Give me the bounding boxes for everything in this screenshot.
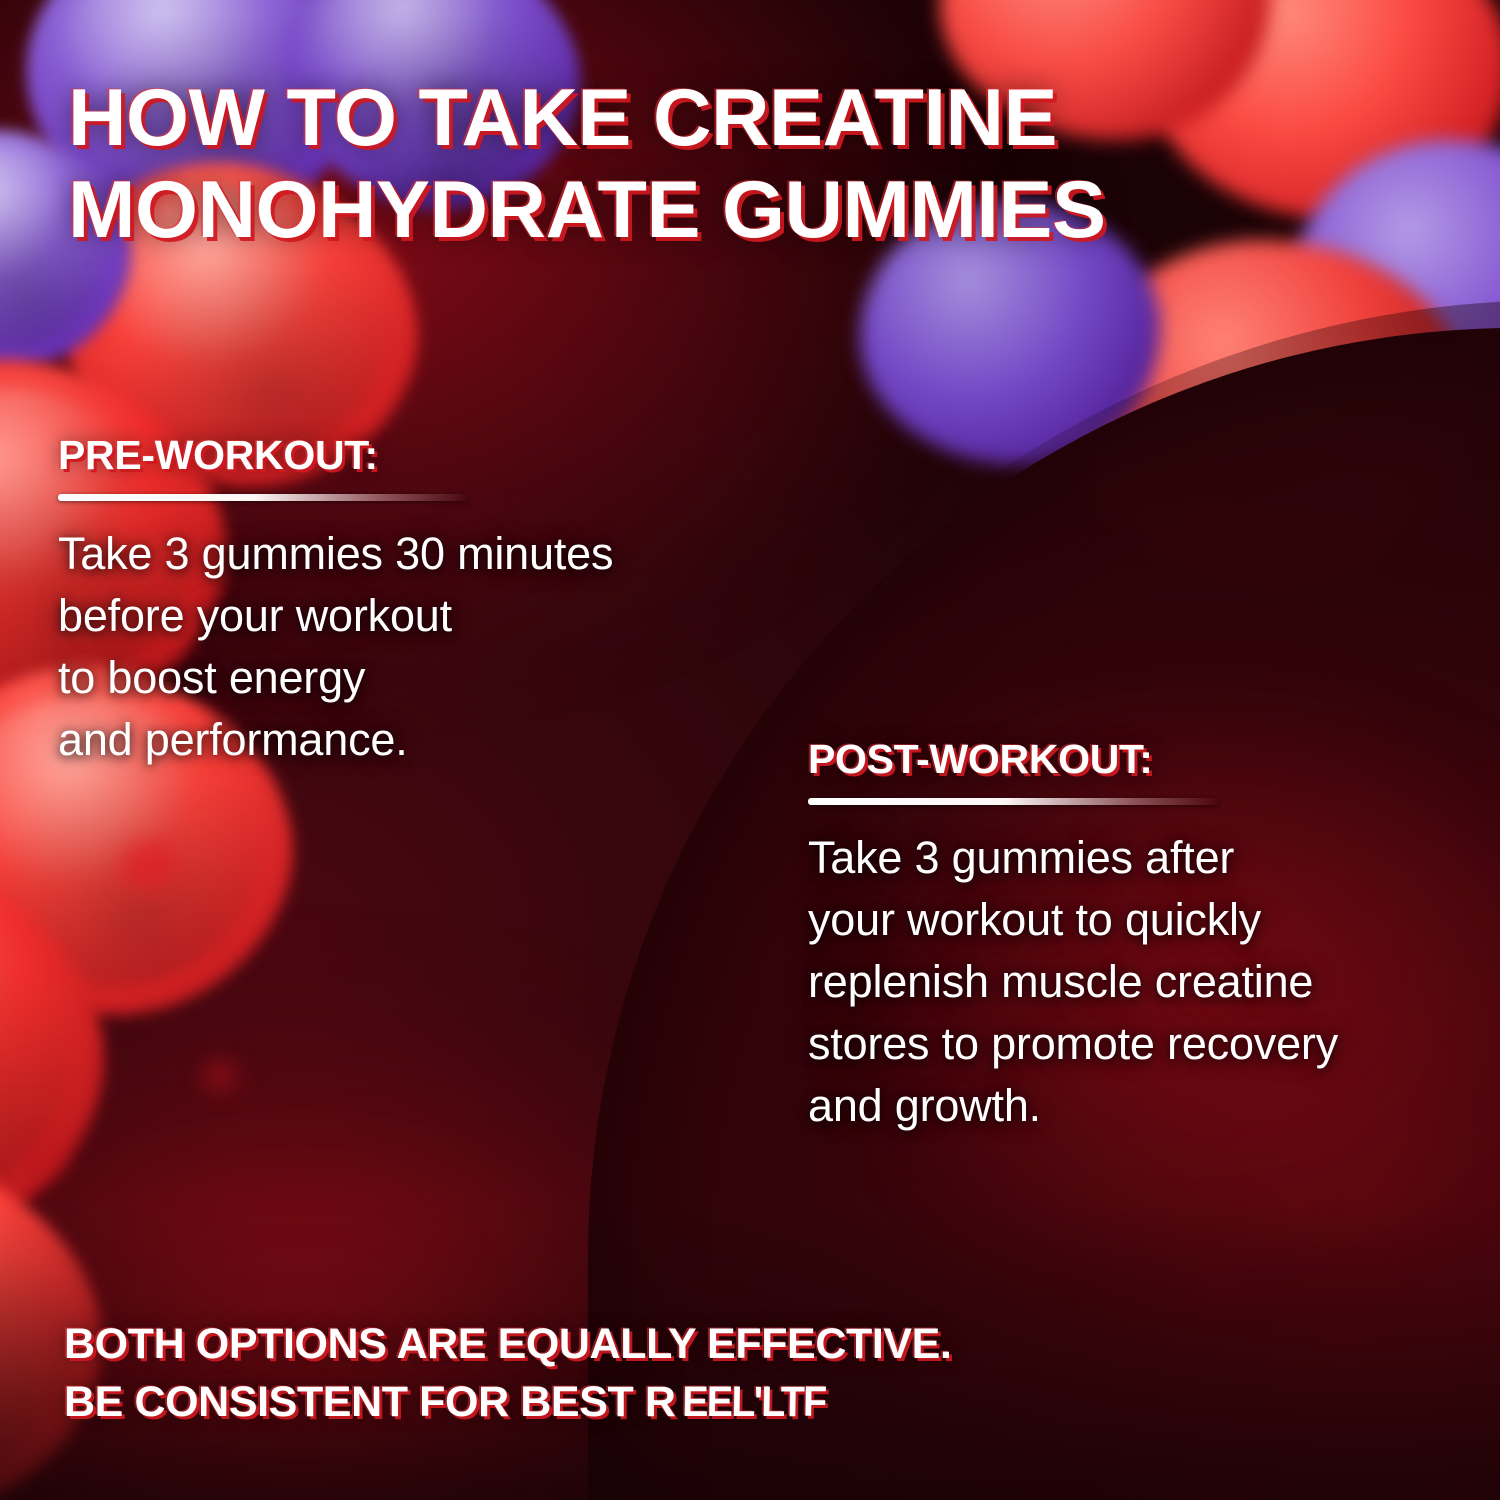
page-title: HOW TO TAKE CREATINE MONOHYDRATE GUMMIES bbox=[68, 72, 1338, 257]
pre-workout-body: Take 3 gummies 30 minutes before your wo… bbox=[58, 523, 758, 771]
pre-workout-line-3: to boost energy bbox=[58, 647, 758, 709]
post-workout-line-5: and growth. bbox=[808, 1075, 1468, 1137]
section-post-workout: POST-WORKOUT: Take 3 gummies after your … bbox=[808, 736, 1468, 1137]
footer-line-2: BE CONSISTENT FOR BEST REEl'LTF bbox=[64, 1374, 1364, 1432]
post-workout-line-1: Take 3 gummies after bbox=[808, 827, 1468, 889]
post-workout-underline bbox=[808, 798, 1218, 805]
footer-line-2-prefix: BE CONSISTENT FOR BEST R bbox=[64, 1378, 676, 1426]
content-layer: HOW TO TAKE CREATINE MONOHYDRATE GUMMIES… bbox=[0, 0, 1500, 1500]
post-workout-line-4: stores to promote recovery bbox=[808, 1013, 1468, 1075]
creatine-gummies-infographic: HOW TO TAKE CREATINE MONOHYDRATE GUMMIES… bbox=[0, 0, 1500, 1500]
pre-workout-underline bbox=[58, 494, 468, 501]
post-workout-line-3: replenish muscle creatine bbox=[808, 951, 1468, 1013]
post-workout-body: Take 3 gummies after your workout to qui… bbox=[808, 827, 1468, 1137]
footer-line-2-glitched-text: EEl'LTF bbox=[681, 1374, 825, 1432]
footer-note: BOTH OPTIONS ARE EQUALLY EFFECTIVE. BE C… bbox=[64, 1316, 1364, 1431]
pre-workout-line-1: Take 3 gummies 30 minutes bbox=[58, 523, 758, 585]
post-workout-heading: POST-WORKOUT: bbox=[808, 736, 1468, 783]
pre-workout-heading: PRE-WORKOUT: bbox=[58, 432, 758, 479]
section-pre-workout: PRE-WORKOUT: Take 3 gummies 30 minutes b… bbox=[58, 432, 758, 771]
footer-line-1: BOTH OPTIONS ARE EQUALLY EFFECTIVE. bbox=[64, 1316, 1364, 1374]
pre-workout-line-2: before your workout bbox=[58, 585, 758, 647]
pre-workout-line-4: and performance. bbox=[58, 709, 758, 771]
post-workout-line-2: your workout to quickly bbox=[808, 889, 1468, 951]
